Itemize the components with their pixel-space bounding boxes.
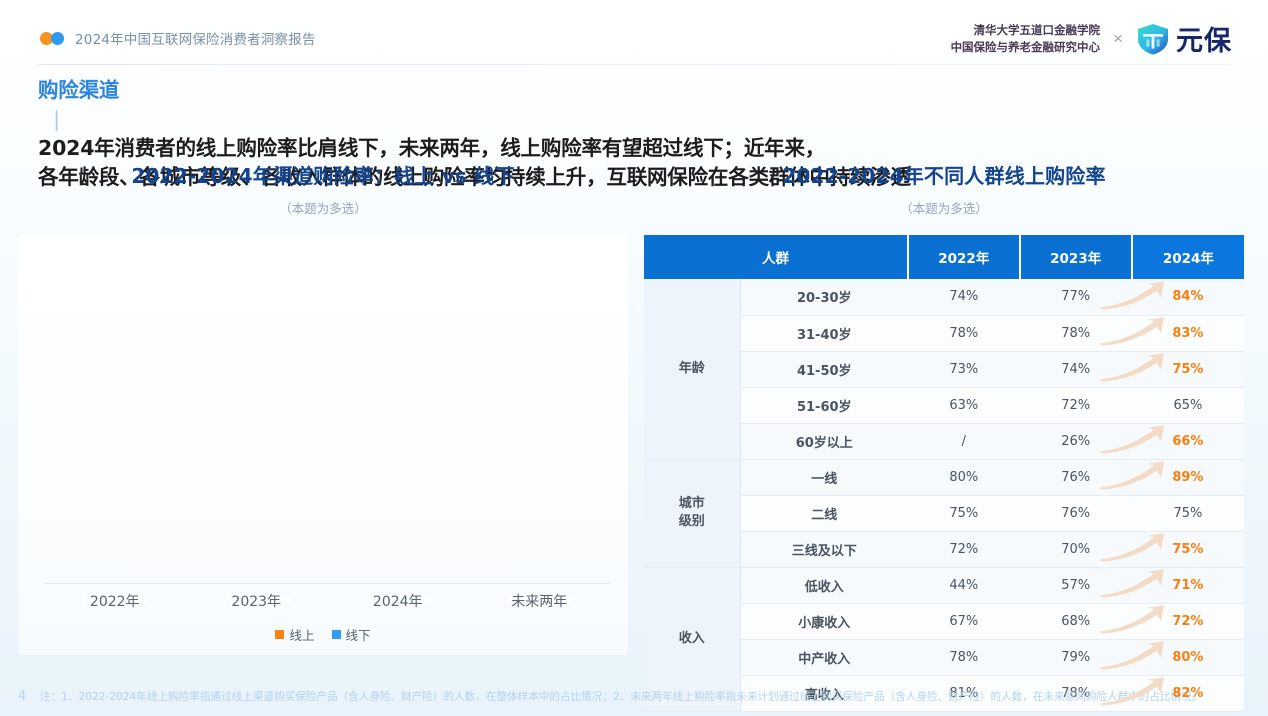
- table-cell-2022: 63%: [908, 387, 1020, 423]
- table-cell-2024: 80%: [1132, 639, 1244, 675]
- legend-item-online: 线上: [275, 625, 314, 644]
- table-cell-2024: 75%: [1132, 495, 1244, 531]
- table-cell-2024: 75%: [1132, 351, 1244, 387]
- table-cell-2022: 67%: [908, 603, 1020, 639]
- brand-logo: 元保: [1136, 19, 1232, 58]
- table-cell-2023: 76%: [1020, 495, 1132, 531]
- table-group-label: 城市级别: [644, 459, 740, 567]
- university-line-1: 清华大学五道口金融学院: [951, 22, 1101, 38]
- table-header-2024: 2024年: [1132, 235, 1244, 279]
- table-cell-2024: 65%: [1132, 387, 1244, 423]
- bar-group: 74%90%: [44, 243, 186, 583]
- x-tick-label: 未来两年: [469, 591, 611, 611]
- legend-label-online: 线上: [289, 625, 314, 644]
- left-panel-subtitle: （本题为多选）: [18, 198, 628, 217]
- table-cell-2023: 72%: [1020, 387, 1132, 423]
- table-cell-2023: 70%: [1020, 531, 1132, 567]
- legend-item-offline: 线下: [332, 625, 371, 644]
- table-segment-label: 51-60岁: [740, 387, 908, 423]
- x-tick-label: 2024年: [327, 591, 469, 611]
- legend-swatch-offline-icon: [332, 630, 341, 639]
- left-panel: 2022-2024年渠道购险率：线上 vs 线下 （本题为多选） 74%90%7…: [18, 160, 628, 655]
- legend-swatch-online-icon: [275, 630, 284, 639]
- table-segment-label: 一线: [740, 459, 908, 495]
- table-header-segment: 人群: [644, 235, 908, 279]
- table-cell-2024: 84%: [1132, 279, 1244, 315]
- table-cell-2023: 74%: [1020, 351, 1132, 387]
- left-panel-title: 2022-2024年渠道购险率：线上 vs 线下: [18, 160, 628, 189]
- cross-separator-icon: ×: [1113, 29, 1123, 49]
- page-number: 4: [18, 689, 26, 704]
- headline-divider: |: [38, 105, 75, 134]
- university-credit: 清华大学五道口金融学院 中国保险与养老金融研究中心: [951, 22, 1101, 55]
- table-cell-2024: 89%: [1132, 459, 1244, 495]
- table-cell-2022: 74%: [908, 279, 1020, 315]
- slide: 2024年中国互联网保险消费者洞察报告 清华大学五道口金融学院 中国保险与养老金…: [0, 0, 1268, 716]
- table-header-row: 人群 2022年 2023年 2024年: [644, 235, 1244, 279]
- table-cell-2023: 78%: [1020, 315, 1132, 351]
- table-group-label: 年龄: [644, 279, 740, 459]
- table-cell-2024-value: 75%: [1173, 506, 1202, 521]
- two-dots-icon: [40, 32, 66, 45]
- bar-group: 72%71%: [469, 243, 611, 583]
- table-cell-2024-value: 75%: [1172, 542, 1203, 557]
- headline-key: 购险渠道: [38, 78, 119, 102]
- table-cell-2024-value: 80%: [1172, 650, 1203, 665]
- bar-chart: 74%90%73%85%78%79%72%71% 2022年2023年2024年…: [18, 235, 628, 655]
- table-cell-2023: 76%: [1020, 459, 1132, 495]
- table-row: 年龄20-30岁74%77%84%: [644, 279, 1244, 315]
- bar-groups: 74%90%73%85%78%79%72%71%: [44, 243, 610, 583]
- table-cell-2022: 78%: [908, 315, 1020, 351]
- table-cell-2024: 66%: [1132, 423, 1244, 459]
- chart-x-axis: [44, 583, 610, 584]
- table-row: 收入低收入44%57%71%: [644, 567, 1244, 603]
- table-header-2022: 2022年: [908, 235, 1020, 279]
- table-cell-2023: 57%: [1020, 567, 1132, 603]
- table-segment-label: 三线及以下: [740, 531, 908, 567]
- legend-label-offline: 线下: [346, 625, 371, 644]
- table-cell-2023: 77%: [1020, 279, 1132, 315]
- table-cell-2024: 83%: [1132, 315, 1244, 351]
- segment-table-wrapper: 人群 2022年 2023年 2024年 年龄20-30岁74%77%84%31…: [638, 235, 1250, 712]
- header-right: 清华大学五道口金融学院 中国保险与养老金融研究中心 × 元保: [951, 19, 1232, 58]
- document-title: 2024年中国互联网保险消费者洞察报告: [75, 28, 316, 48]
- headline-line-1: 2024年消费者的线上购险率比肩线下，未来两年，线上购险率有望超过线下；近年来，: [38, 136, 825, 160]
- chart-x-tick-labels: 2022年2023年2024年未来两年: [44, 591, 610, 611]
- table-cell-2024-value: 82%: [1172, 686, 1203, 701]
- table-body: 年龄20-30岁74%77%84%31-40岁78%78%83%41-50岁73…: [644, 279, 1244, 711]
- table-segment-label: 41-50岁: [740, 351, 908, 387]
- header-left: 2024年中国互联网保险消费者洞察报告: [40, 28, 316, 48]
- table-segment-label: 二线: [740, 495, 908, 531]
- table-cell-2023: 68%: [1020, 603, 1132, 639]
- table-segment-label: 31-40岁: [740, 315, 908, 351]
- table-cell-2024-value: 84%: [1172, 289, 1203, 304]
- table-cell-2024-value: 75%: [1172, 362, 1203, 377]
- table-cell-2024: 72%: [1132, 603, 1244, 639]
- right-panel-title: 2022-2024年不同人群线上购险率: [638, 160, 1250, 189]
- table-cell-2022: /: [908, 423, 1020, 459]
- bar-group: 78%79%: [327, 243, 469, 583]
- table-cell-2022: 73%: [908, 351, 1020, 387]
- table-cell-2024-value: 65%: [1173, 398, 1202, 413]
- table-cell-2022: 72%: [908, 531, 1020, 567]
- table-cell-2024-value: 83%: [1172, 326, 1203, 341]
- x-tick-label: 2022年: [44, 591, 186, 611]
- segment-table: 人群 2022年 2023年 2024年 年龄20-30岁74%77%84%31…: [644, 235, 1244, 712]
- slide-header: 2024年中国互联网保险消费者洞察报告 清华大学五道口金融学院 中国保险与养老金…: [0, 0, 1268, 66]
- table-segment-label: 20-30岁: [740, 279, 908, 315]
- table-cell-2023: 26%: [1020, 423, 1132, 459]
- table-cell-2024-value: 72%: [1172, 614, 1203, 629]
- shield-icon: [1136, 23, 1170, 55]
- table-cell-2024-value: 71%: [1172, 578, 1203, 593]
- chart-legend: 线上 线下: [18, 625, 628, 644]
- table-cell-2022: 80%: [908, 459, 1020, 495]
- brand-name: 元保: [1176, 19, 1232, 58]
- table-cell-2022: 75%: [908, 495, 1020, 531]
- table-cell-2022: 44%: [908, 567, 1020, 603]
- x-tick-label: 2023年: [186, 591, 328, 611]
- bar-group: 73%85%: [186, 243, 328, 583]
- header-divider: [38, 64, 1230, 65]
- table-segment-label: 低收入: [740, 567, 908, 603]
- footnote: 注：1、2022-2024年线上购险率指通过线上渠道购买保险产品（含人身险、财产…: [40, 689, 1256, 706]
- university-line-2: 中国保险与养老金融研究中心: [951, 39, 1101, 55]
- table-segment-label: 60岁以上: [740, 423, 908, 459]
- chart-plot-area: 74%90%73%85%78%79%72%71%: [44, 243, 610, 583]
- table-row: 城市级别一线80%76%89%: [644, 459, 1244, 495]
- table-header-2023: 2023年: [1020, 235, 1132, 279]
- table-cell-2024-value: 89%: [1172, 470, 1203, 485]
- right-panel: 2022-2024年不同人群线上购险率 （本题为多选） 人群 2022年 202…: [638, 160, 1250, 712]
- table-cell-2024: 71%: [1132, 567, 1244, 603]
- table-cell-2024-value: 66%: [1172, 434, 1203, 449]
- right-panel-subtitle: （本题为多选）: [638, 198, 1250, 217]
- table-cell-2024: 75%: [1132, 531, 1244, 567]
- table-segment-label: 中产收入: [740, 639, 908, 675]
- table-segment-label: 小康收入: [740, 603, 908, 639]
- table-cell-2023: 79%: [1020, 639, 1132, 675]
- table-cell-2022: 78%: [908, 639, 1020, 675]
